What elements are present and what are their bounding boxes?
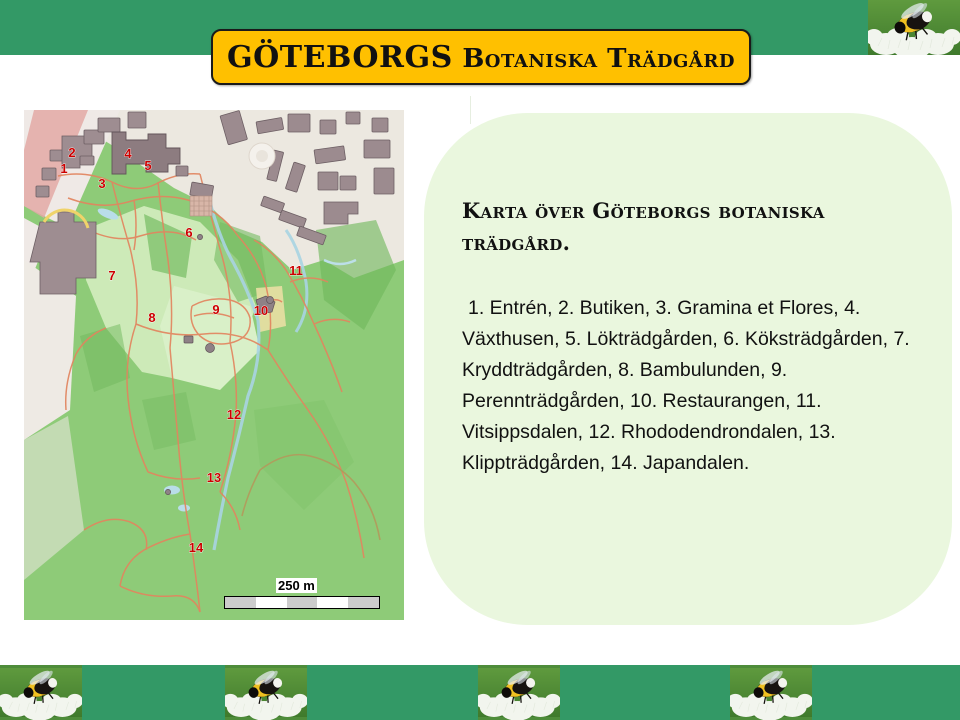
map-marker-2[interactable]: 2 <box>68 145 75 160</box>
map-scale-label: 250 m <box>276 578 317 593</box>
map-marker-10[interactable]: 10 <box>254 303 268 318</box>
map-marker-11[interactable]: 11 <box>289 263 303 278</box>
map-marker-13[interactable]: 13 <box>207 470 221 485</box>
map-canvas: 1234567891011121314 <box>24 110 404 620</box>
map-marker-1[interactable]: 1 <box>60 161 67 176</box>
slide-title-plate: GÖTEBORGS Botaniska Trädgård <box>211 29 751 85</box>
map-scale-segments <box>224 596 380 609</box>
panel-hairline <box>470 96 471 124</box>
map-marker-3[interactable]: 3 <box>98 176 105 191</box>
page-title-city: GÖTEBORGS <box>227 40 453 75</box>
bee-photo-icon <box>225 665 307 720</box>
slide-root: GÖTEBORGS Botaniska Trädgård Karta över … <box>0 0 960 720</box>
garden-map[interactable]: 1234567891011121314 250 m <box>24 110 404 620</box>
map-marker-6[interactable]: 6 <box>185 225 192 240</box>
map-marker-8[interactable]: 8 <box>148 310 155 325</box>
bee-photo-icon <box>730 665 812 720</box>
info-panel-content: Karta över Göteborgs botaniska trädgård.… <box>462 195 922 479</box>
map-marker-7[interactable]: 7 <box>108 268 115 283</box>
map-marker-12[interactable]: 12 <box>227 407 241 422</box>
bee-photo-icon <box>478 665 560 720</box>
info-panel: Karta över Göteborgs botaniska trädgård.… <box>424 113 952 625</box>
map-marker-14[interactable]: 14 <box>189 540 204 555</box>
info-heading: Karta över Göteborgs botaniska trädgård. <box>462 195 922 259</box>
page-title: GÖTEBORGS Botaniska Trädgård <box>227 40 735 75</box>
page-title-rest: Botaniska Trädgård <box>453 44 735 74</box>
map-marker-5[interactable]: 5 <box>144 158 151 173</box>
info-legend-text: 1. Entrén, 2. Butiken, 3. Gramina et Flo… <box>462 293 922 479</box>
bee-photo-icon <box>868 0 960 55</box>
map-marker-9[interactable]: 9 <box>212 302 219 317</box>
map-marker-4[interactable]: 4 <box>124 146 132 161</box>
bee-photo-icon <box>0 665 82 720</box>
